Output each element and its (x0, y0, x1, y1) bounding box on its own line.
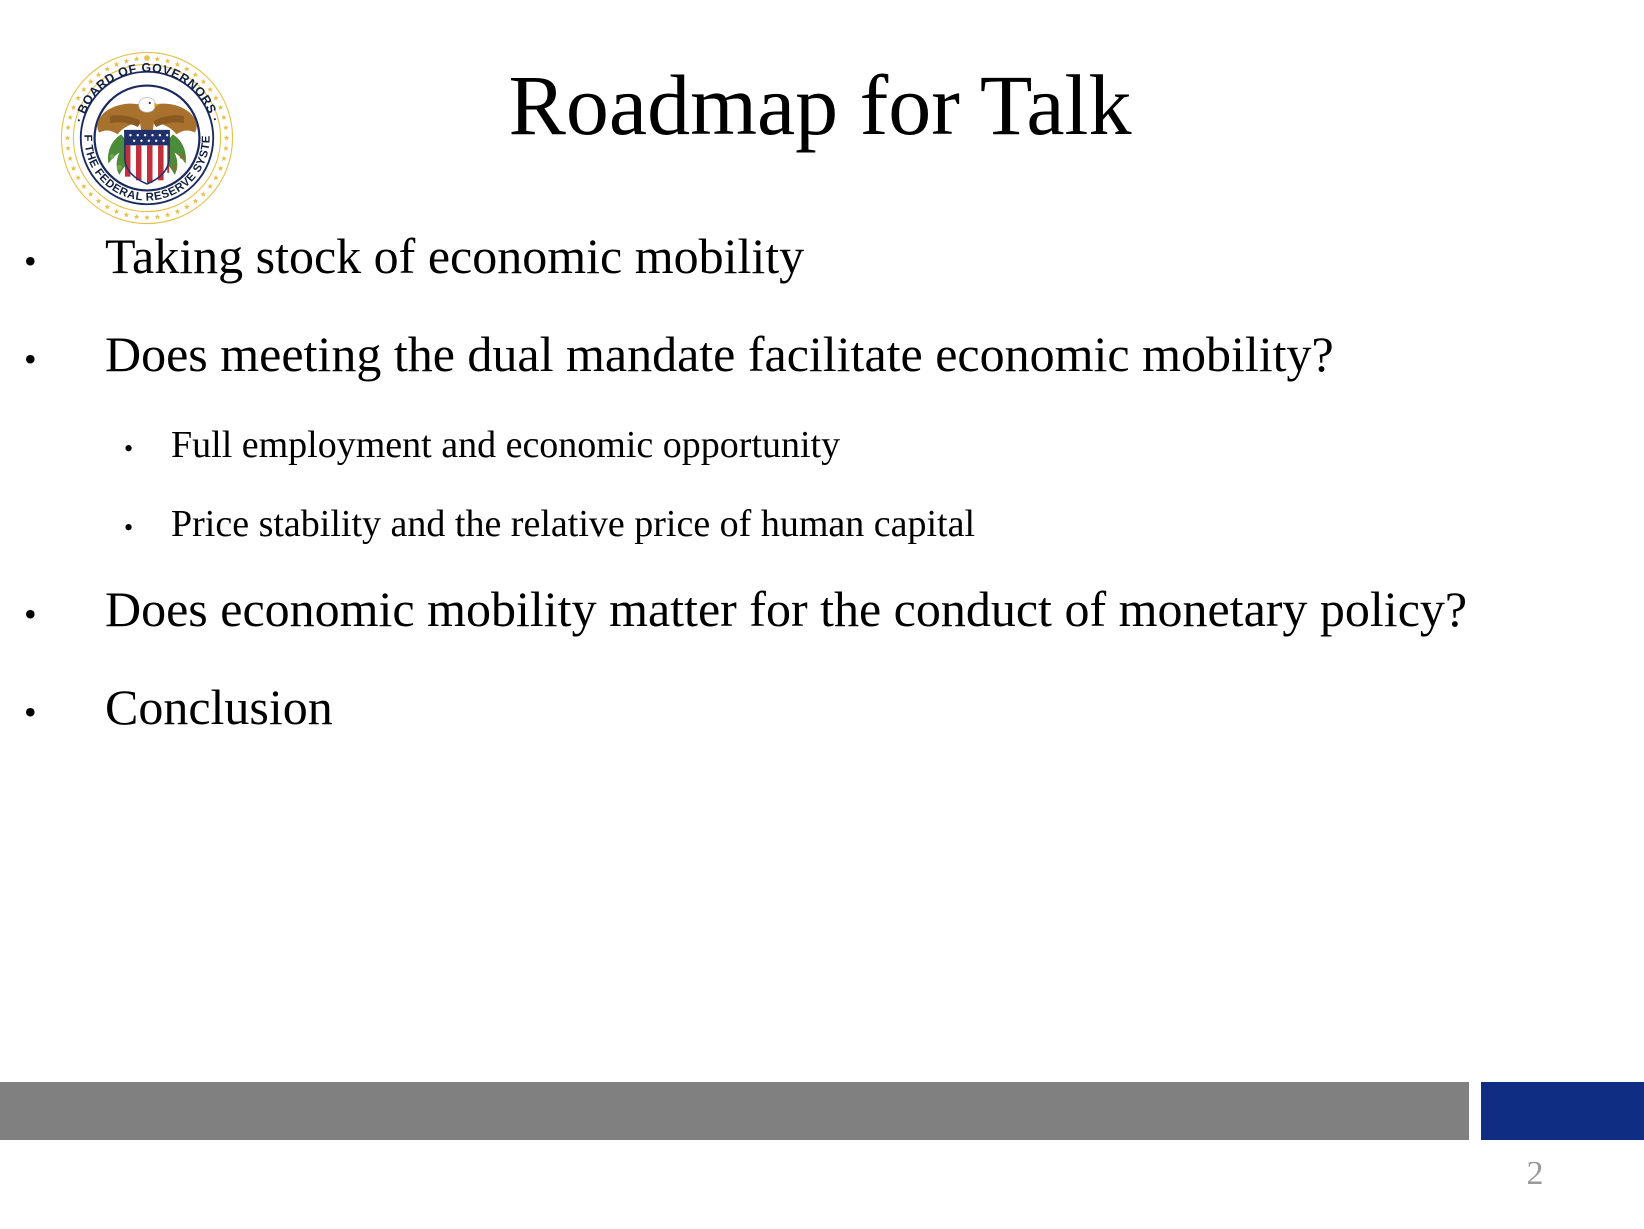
list-item-label: Does economic mobility matter for the co… (105, 581, 1467, 637)
seal-icon: · BOARD OF GOVERNORS · OF THE FEDERAL RE… (55, 46, 239, 230)
bullet-marker-icon: • (24, 341, 105, 377)
list-item: • Conclusion (0, 679, 1620, 735)
footer-bar-gray (0, 1082, 1469, 1140)
sub-list-item-label: Price stability and the relative price o… (171, 503, 975, 546)
sub-list-item: • Price stability and the relative price… (0, 503, 1620, 546)
bullet-marker-icon: • (124, 436, 171, 462)
presentation-slide: · BOARD OF GOVERNORS · OF THE FEDERAL RE… (0, 0, 1644, 1229)
federal-reserve-seal-logo: · BOARD OF GOVERNORS · OF THE FEDERAL RE… (55, 46, 239, 230)
list-item: • Does meeting the dual mandate facilita… (0, 326, 1620, 382)
content-bullet-list: • Taking stock of economic mobility • Do… (0, 228, 1620, 777)
sub-list-item-label: Full employment and economic opportunity (171, 424, 840, 467)
bullet-marker-icon: • (124, 515, 171, 541)
list-item-label: Taking stock of economic mobility (105, 228, 804, 284)
list-item-label: Does meeting the dual mandate facilitate… (105, 326, 1334, 382)
list-item: • Does economic mobility matter for the … (0, 581, 1620, 637)
bullet-marker-icon: • (24, 694, 105, 730)
sub-list-item: • Full employment and economic opportuni… (0, 424, 1620, 467)
page-number: 2 (1500, 1155, 1570, 1193)
bullet-marker-icon: • (24, 596, 105, 632)
page-title: Roadmap for Talk (260, 62, 1380, 148)
bullet-marker-icon: • (24, 243, 105, 279)
list-item-label: Conclusion (105, 679, 333, 735)
footer-bar-blue (1481, 1082, 1644, 1140)
list-item: • Taking stock of economic mobility (0, 228, 1620, 284)
